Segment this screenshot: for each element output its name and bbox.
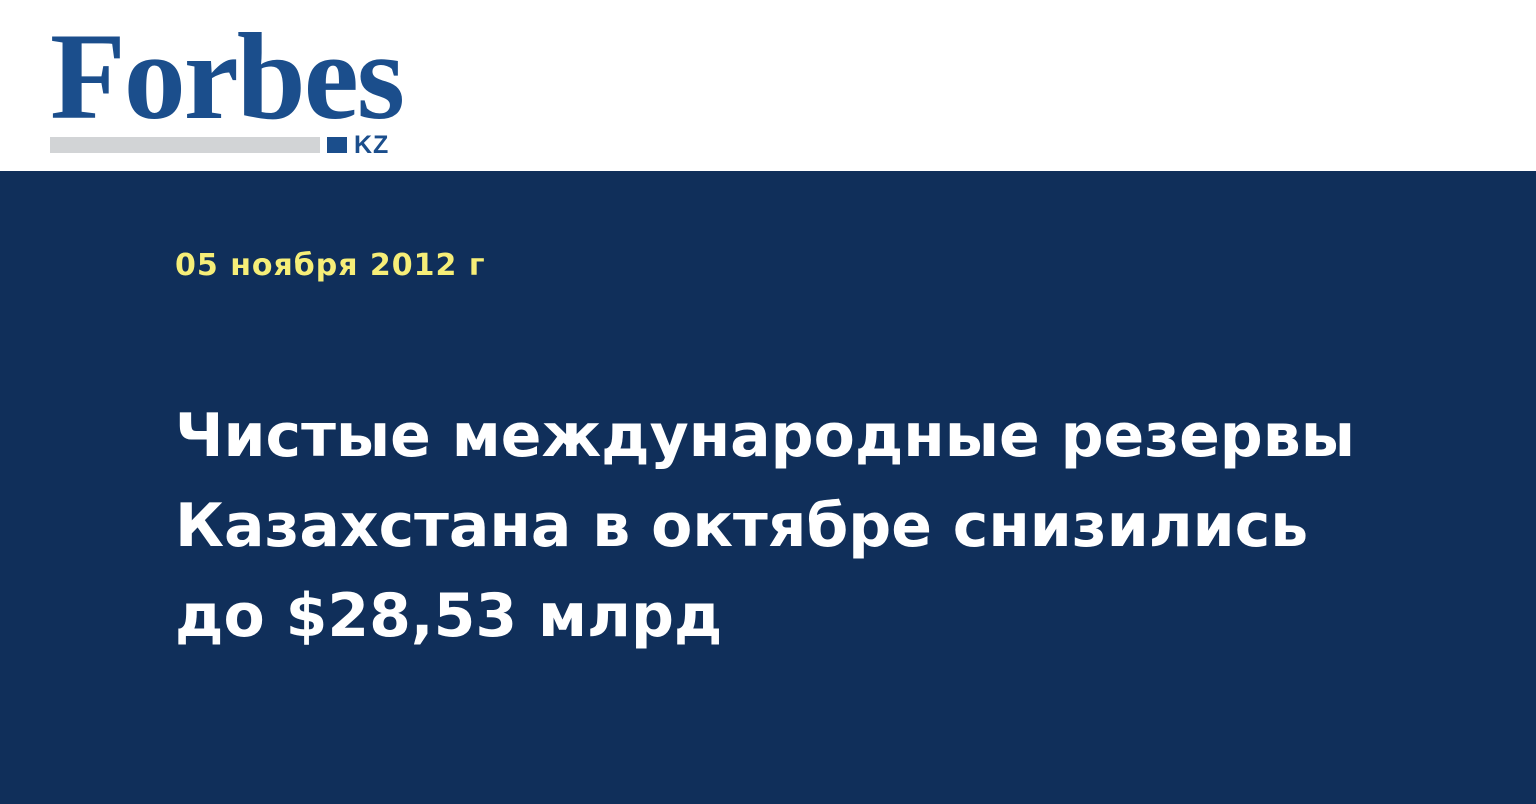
article-publish-date: 05 ноября 2012 г — [175, 249, 486, 283]
article-headline: Чистые международные резервы Казахстана … — [175, 391, 1365, 661]
site-masthead: Forbes KZ — [0, 0, 1536, 171]
article-hero-page: Forbes KZ 05 ноября 2012 г Чистые междун… — [0, 0, 1536, 804]
logo-kz-suffix: KZ — [354, 133, 389, 158]
forbes-kz-logo[interactable]: Forbes KZ — [50, 18, 410, 153]
article-hero-band: 05 ноября 2012 г Чистые международные ре… — [0, 171, 1536, 804]
logo-rule-divider — [50, 137, 320, 153]
logo-square-icon — [327, 137, 347, 153]
forbes-wordmark: Forbes — [50, 18, 403, 136]
